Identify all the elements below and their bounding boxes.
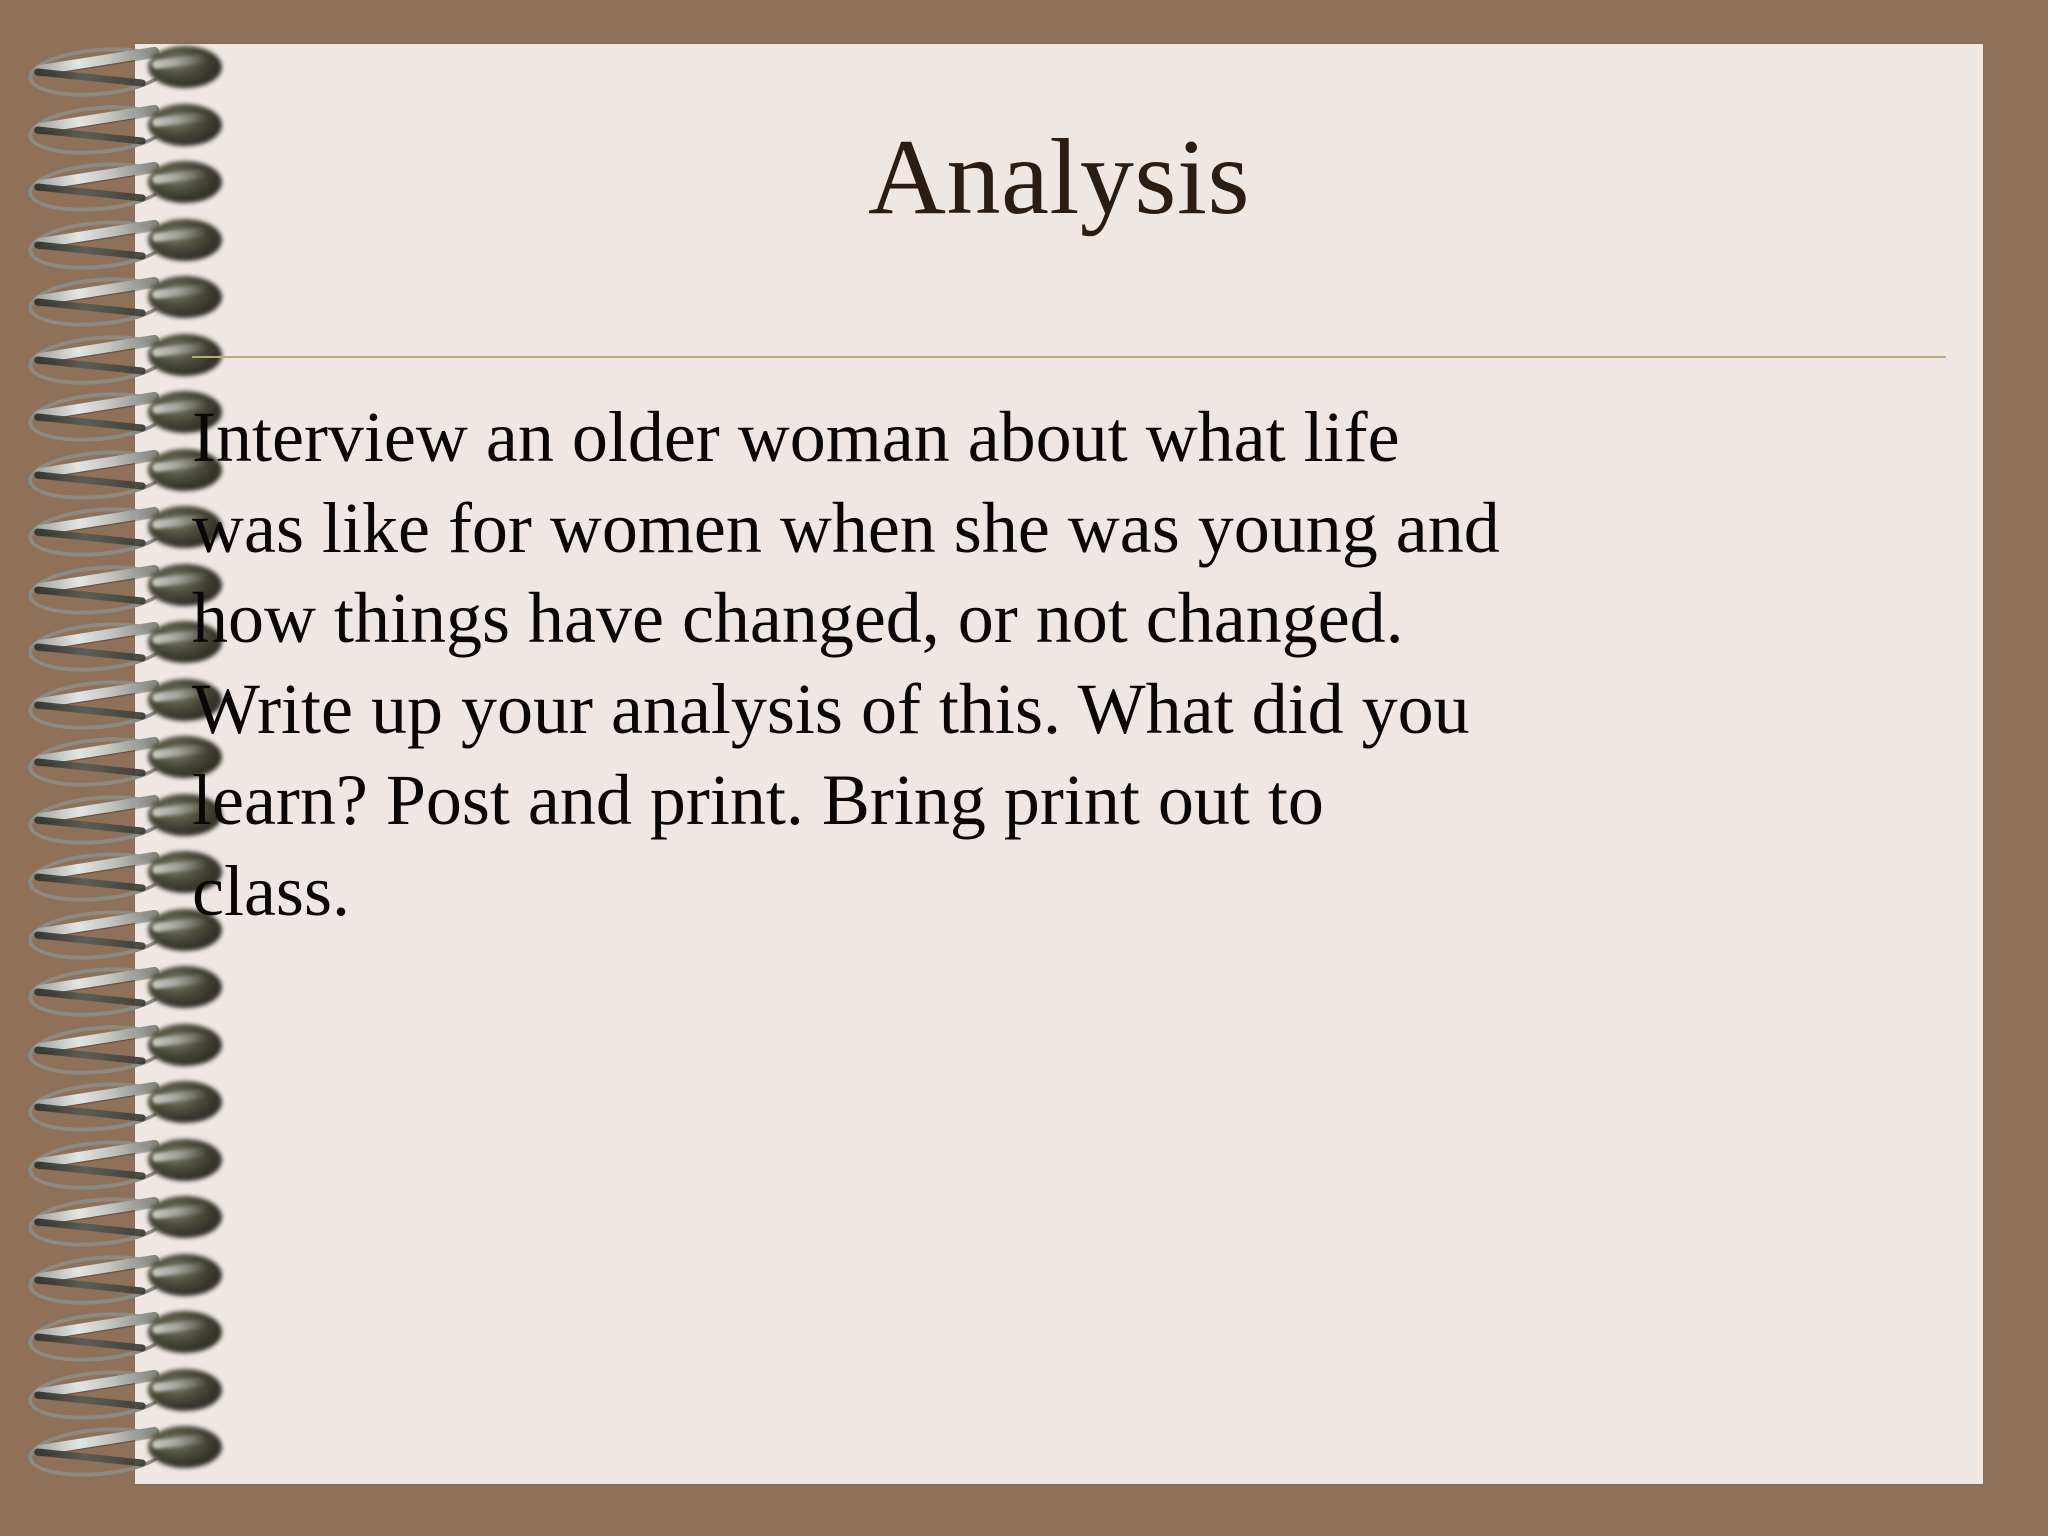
slide-body-text: Interview an older woman about what life… — [192, 392, 1948, 936]
spiral-wire-shadow — [34, 413, 146, 432]
spiral-wire-shadow — [34, 183, 146, 202]
spiral-wire-shadow — [34, 816, 146, 835]
spiral-wire-shadow — [34, 1161, 146, 1180]
page-title: Analysis — [135, 120, 1983, 237]
spiral-wire-shadow — [34, 1391, 146, 1410]
spiral-wire-shadow — [34, 1046, 146, 1065]
spiral-wire-shadow — [34, 701, 146, 720]
spiral-wire-shadow — [34, 298, 146, 317]
spiral-wire-shadow — [34, 126, 146, 145]
title-divider-rule — [192, 356, 1946, 358]
presentation-slide: Analysis Interview an older woman about … — [0, 0, 2048, 1536]
spiral-wire-shadow — [34, 471, 146, 490]
spiral-wire-shadow — [34, 241, 146, 260]
spiral-wire-shadow — [34, 643, 146, 662]
spiral-wire-shadow — [34, 873, 146, 892]
spiral-wire-shadow — [34, 68, 146, 87]
spiral-wire-shadow — [34, 1333, 146, 1352]
spiral-wire-shadow — [34, 931, 146, 950]
spiral-wire-shadow — [34, 528, 146, 547]
spiral-wire-shadow — [34, 1276, 146, 1295]
spiral-wire-shadow — [34, 1103, 146, 1122]
spiral-wire-shadow — [34, 988, 146, 1007]
spiral-wire-shadow — [34, 758, 146, 777]
spiral-wire-shadow — [34, 586, 146, 605]
spiral-wire-shadow — [34, 356, 146, 375]
spiral-wire-shadow — [34, 1218, 146, 1237]
spiral-wire-shadow — [34, 1448, 146, 1467]
